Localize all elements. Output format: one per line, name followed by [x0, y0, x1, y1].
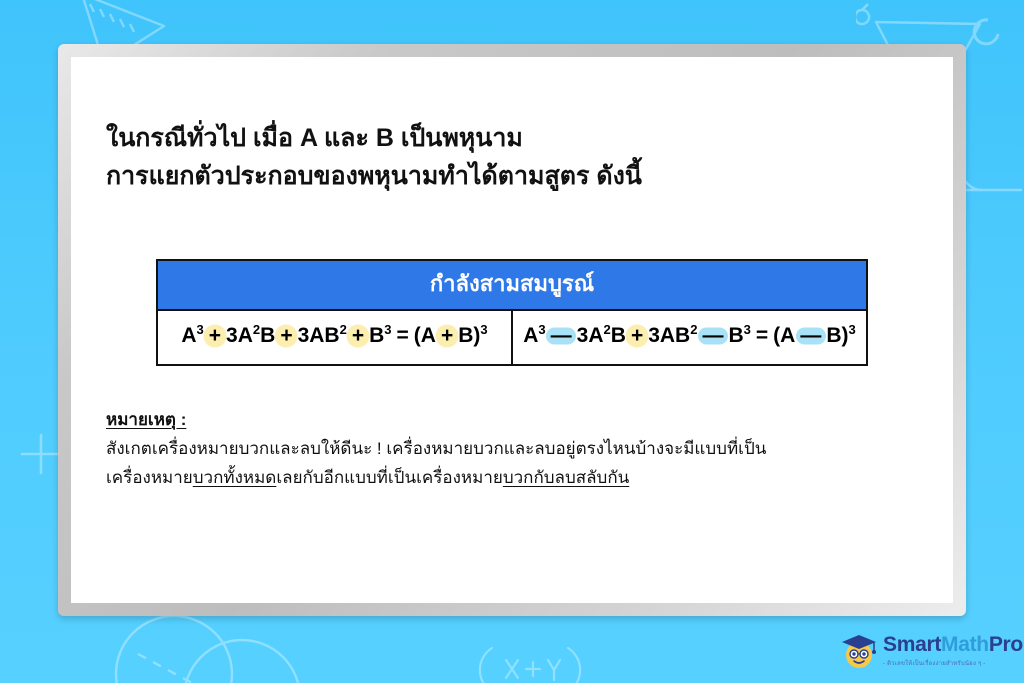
- term-b-cubed: B3: [728, 324, 750, 347]
- table-header-row: กำลังสามสมบูรณ์: [157, 260, 867, 310]
- formula-cell-sum: A3+3A2B+3AB2+B3=(A+B)3: [157, 310, 512, 365]
- operator-equals: =: [752, 324, 772, 348]
- notes-line-2-underline-2: บวกกับลบสลับกัน: [503, 468, 629, 487]
- logo-wordmark: SmartMathPro: [883, 634, 1023, 655]
- operator-plus-1: +: [627, 324, 647, 348]
- angle-doodle: [958, 120, 1024, 200]
- brand-logo: SmartMathPro - ติวเลขให้เป็นเรื่องง่ายสำ…: [838, 628, 1023, 674]
- notes-line-2-underline-1: บวกทั้งหมด: [193, 468, 277, 487]
- factored-form-sum: (A+B)3: [414, 324, 488, 347]
- logo-text: SmartMathPro - ติวเลขให้เป็นเรื่องง่ายสำ…: [883, 634, 1023, 668]
- notes-line-2: เครื่องหมายบวกทั้งหมดเลยกับอีกแบบที่เป็น…: [106, 463, 766, 492]
- difference-of-cubes-expansion: A3—3A2B+3AB2—B3=(A—B)3: [523, 324, 856, 348]
- table-formula-row: A3+3A2B+3AB2+B3=(A+B)3 A3—3A2B+3AB2—B3=(…: [157, 310, 867, 365]
- notes-line-2-part-1: เครื่องหมาย: [106, 468, 193, 487]
- logo-word-pro: Pro: [989, 633, 1023, 656]
- whiteboard-frame: ในกรณีทั่วไป เมื่อ A และ B เป็นพหุนาม กา…: [58, 44, 966, 616]
- notes-line-2-part-2: เลยกับอีกแบบที่เป็นเครื่องหมาย: [276, 468, 503, 487]
- slide-canvas: ( x + y ) ในกรณีทั่วไป เมื่อ A และ B เป็…: [0, 0, 1024, 683]
- expression-doodle: [470, 640, 590, 683]
- heading-line-1: ในกรณีทั่วไป เมื่อ A และ B เป็นพหุนาม: [106, 119, 642, 157]
- term-a-cubed: A3: [523, 324, 545, 347]
- operator-minus-3: —: [796, 324, 825, 348]
- notes-block: หมายเหตุ : สังเกตเครื่องหมายบวกและลบให้ด…: [106, 405, 766, 492]
- operator-minus-2: —: [698, 324, 727, 348]
- term-3ab2: 3AB2: [298, 324, 347, 347]
- term-b-cubed: B3: [369, 324, 391, 347]
- term-a-cubed: A3: [181, 324, 203, 347]
- operator-plus-1: +: [205, 324, 225, 348]
- operator-equals: =: [393, 324, 413, 348]
- logo-word-smart: Smart: [883, 633, 941, 656]
- circles-doodle: [104, 612, 334, 683]
- heading-line-2: การแยกตัวประกอบของพหุนามทำได้ตามสูตร ดัง…: [106, 157, 642, 195]
- table-header-title: กำลังสามสมบูรณ์: [157, 260, 867, 310]
- graduate-face-icon: [838, 630, 880, 672]
- operator-minus-1: —: [547, 324, 576, 348]
- term-3a2b: 3A2B: [226, 324, 275, 347]
- formula-table: กำลังสามสมบูรณ์ A3+3A2B+3AB2+B3=(A+B)3 A…: [156, 259, 868, 366]
- logo-word-math: Math: [941, 633, 989, 656]
- notes-title: หมายเหตุ :: [106, 405, 766, 434]
- notes-line-1: สังเกตเครื่องหมายบวกและลบให้ดีนะ ! เครื่…: [106, 434, 766, 463]
- formula-cell-difference: A3—3A2B+3AB2—B3=(A—B)3: [512, 310, 867, 365]
- whiteboard-surface: ในกรณีทั่วไป เมื่อ A และ B เป็นพหุนาม กา…: [71, 57, 953, 603]
- operator-plus-4: +: [437, 324, 457, 348]
- page-title: ในกรณีทั่วไป เมื่อ A และ B เป็นพหุนาม กา…: [106, 119, 642, 195]
- term-3ab2: 3AB2: [648, 324, 697, 347]
- factored-form-difference: (A—B)3: [773, 324, 856, 347]
- term-3a2b: 3A2B: [577, 324, 626, 347]
- sum-of-cubes-expansion: A3+3A2B+3AB2+B3=(A+B)3: [181, 324, 487, 348]
- operator-plus-3: +: [348, 324, 368, 348]
- operator-plus-2: +: [276, 324, 296, 348]
- logo-tagline: - ติวเลขให้เป็นเรื่องง่ายสำหรับน้อง ๆ -: [883, 658, 1023, 668]
